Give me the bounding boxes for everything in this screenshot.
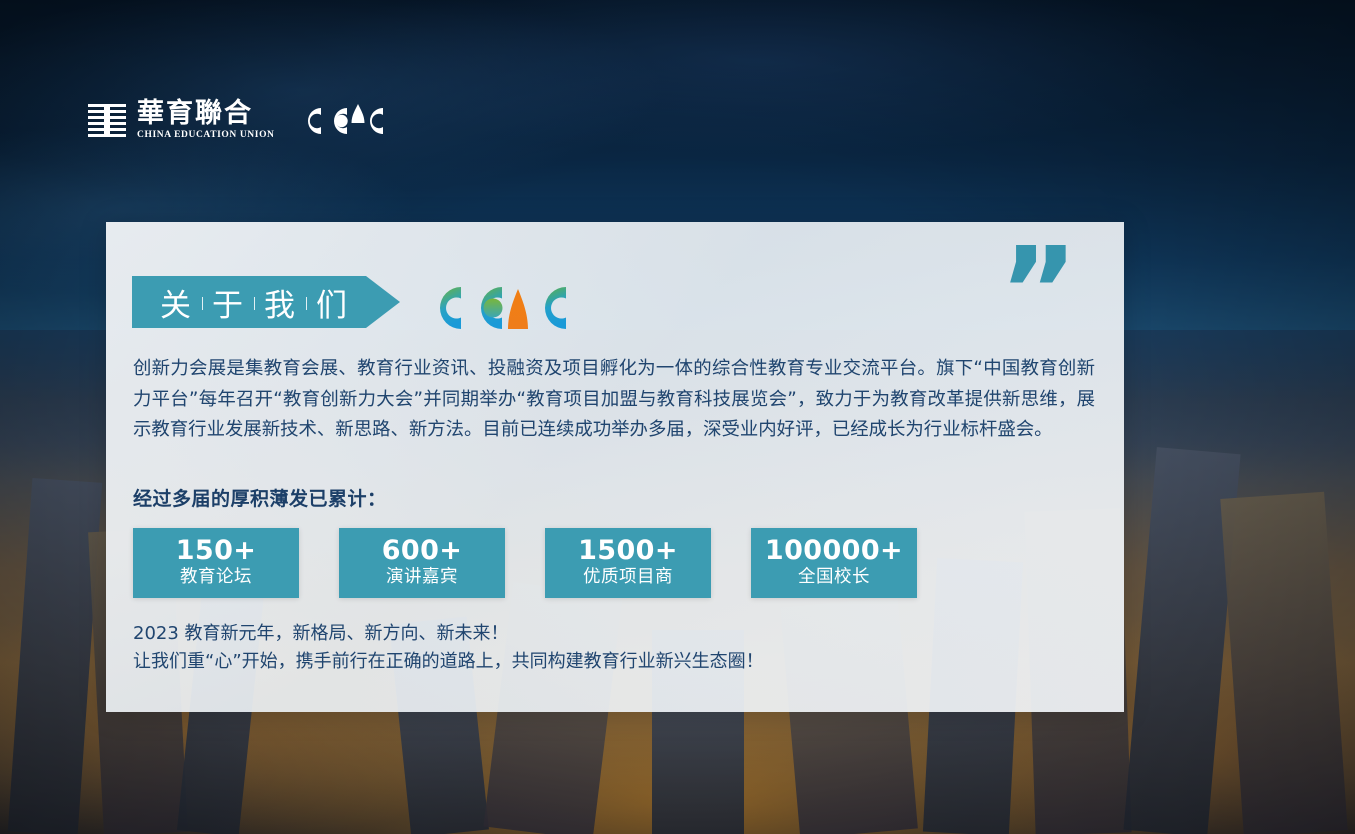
closing-line: 2023 教育新元年，新格局、新方向、新未来！ xyxy=(133,620,764,648)
stat-number: 100000+ xyxy=(765,537,903,565)
title-char: 我 xyxy=(262,280,299,325)
title-char: 于 xyxy=(210,280,247,325)
closing-quote-icon: ” xyxy=(999,250,1082,336)
header-logo-en-text: CHINA EDUCATION UNION xyxy=(137,131,275,141)
closing-message: 2023 教育新元年，新格局、新方向、新未来！ 让我们重“心”开始，携手前行在正… xyxy=(133,620,764,676)
stat-card: 600+ 演讲嘉宾 xyxy=(339,528,505,598)
stat-card: 1500+ 优质项目商 xyxy=(545,528,711,598)
about-us-panel: ” 关 于 我 们 xyxy=(106,222,1124,712)
three-bars-h-icon xyxy=(88,104,126,137)
stats-sub-heading: 经过多届的厚积薄发已累计： xyxy=(133,484,387,511)
building-block xyxy=(1220,492,1347,834)
cdc-wordmark-color-icon xyxy=(420,271,572,333)
stats-row: 150+ 教育论坛 600+ 演讲嘉宾 1500+ 优质项目商 100000+ … xyxy=(133,528,917,598)
header-logo-cn-text: 華育聯合 xyxy=(137,100,275,127)
page-title: 关 于 我 们 xyxy=(158,280,351,325)
title-separator xyxy=(254,297,255,310)
slide-root: 華育聯合 CHINA EDUCATION UNION ” 关 于 xyxy=(0,0,1355,834)
closing-line: 让我们重“心”开始，携手前行在正确的道路上，共同构建教育行业新兴生态圈！ xyxy=(133,648,764,676)
stat-number: 1500+ xyxy=(578,537,678,565)
about-paragraph: 创新力会展是集教育会展、教育行业资讯、投融资及项目孵化为一体的综合性教育专业交流… xyxy=(133,354,1095,446)
panel-title-row: 关 于 我 们 xyxy=(132,271,572,333)
stat-number: 600+ xyxy=(382,537,463,565)
stat-label: 全国校长 xyxy=(798,567,870,589)
section-title-banner: 关 于 我 们 xyxy=(132,276,400,328)
stat-label: 教育论坛 xyxy=(180,567,252,589)
cdc-wordmark-white-icon xyxy=(299,102,385,138)
title-separator xyxy=(306,297,307,310)
title-char: 们 xyxy=(314,280,351,325)
china-education-union-logo: 華育聯合 CHINA EDUCATION UNION xyxy=(88,100,275,141)
title-char: 关 xyxy=(158,280,195,325)
header-logo-lockup: 華育聯合 CHINA EDUCATION UNION xyxy=(88,100,385,141)
stat-label: 优质项目商 xyxy=(583,567,673,589)
stat-number: 150+ xyxy=(176,537,257,565)
title-separator xyxy=(202,297,203,310)
stat-card: 150+ 教育论坛 xyxy=(133,528,299,598)
stat-label: 演讲嘉宾 xyxy=(386,567,458,589)
stat-card: 100000+ 全国校长 xyxy=(751,528,917,598)
